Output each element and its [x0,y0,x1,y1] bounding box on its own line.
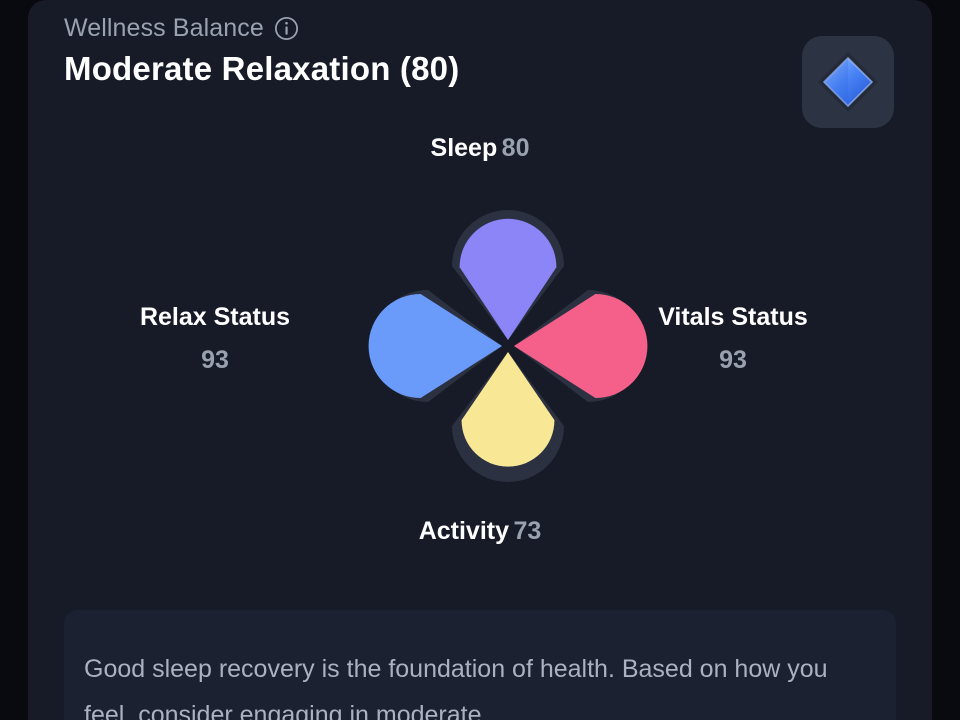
axis-name-vitals-status: Vitals Status [658,303,808,331]
petal-relax-status[interactable] [369,294,502,398]
description-text: Good sleep recovery is the foundation of… [84,646,876,720]
petal-sleep[interactable] [460,219,557,340]
achievement-badge[interactable] [802,36,894,128]
panel-kicker: Wellness Balance [64,14,264,43]
petal-chart-svg [352,190,664,502]
axis-name-relax-status: Relax Status [140,303,290,331]
axis-value-sleep: 80 [502,134,530,162]
wellness-balance-panel: Wellness Balance Moderate Relaxation (80… [28,0,932,720]
axis-name-activity: Activity [419,517,509,545]
axis-label-relax-status: Relax Status 93 [50,303,380,375]
axis-value-relax-status: 93 [50,346,380,375]
petal-activity[interactable] [462,352,555,467]
axis-label-sleep: Sleep 80 [280,134,680,163]
description-card: Good sleep recovery is the foundation of… [64,610,896,720]
header-kicker-row: Wellness Balance [64,14,459,43]
panel-header: Wellness Balance Moderate Relaxation (80… [64,14,459,88]
petal-vitals-status[interactable] [514,294,647,398]
wellness-flower-chart: Sleep 80 Activity 73 Relax Status 93 Vit… [28,125,932,585]
axis-label-activity: Activity 73 [280,517,680,546]
blue-diamond-gem-icon [812,46,884,118]
axis-value-activity: 73 [513,517,541,545]
app-root: Wellness Balance Moderate Relaxation (80… [0,0,960,720]
info-circle-icon[interactable] [274,16,299,41]
axis-name-sleep: Sleep [431,134,498,162]
page-title: Moderate Relaxation (80) [64,50,459,88]
